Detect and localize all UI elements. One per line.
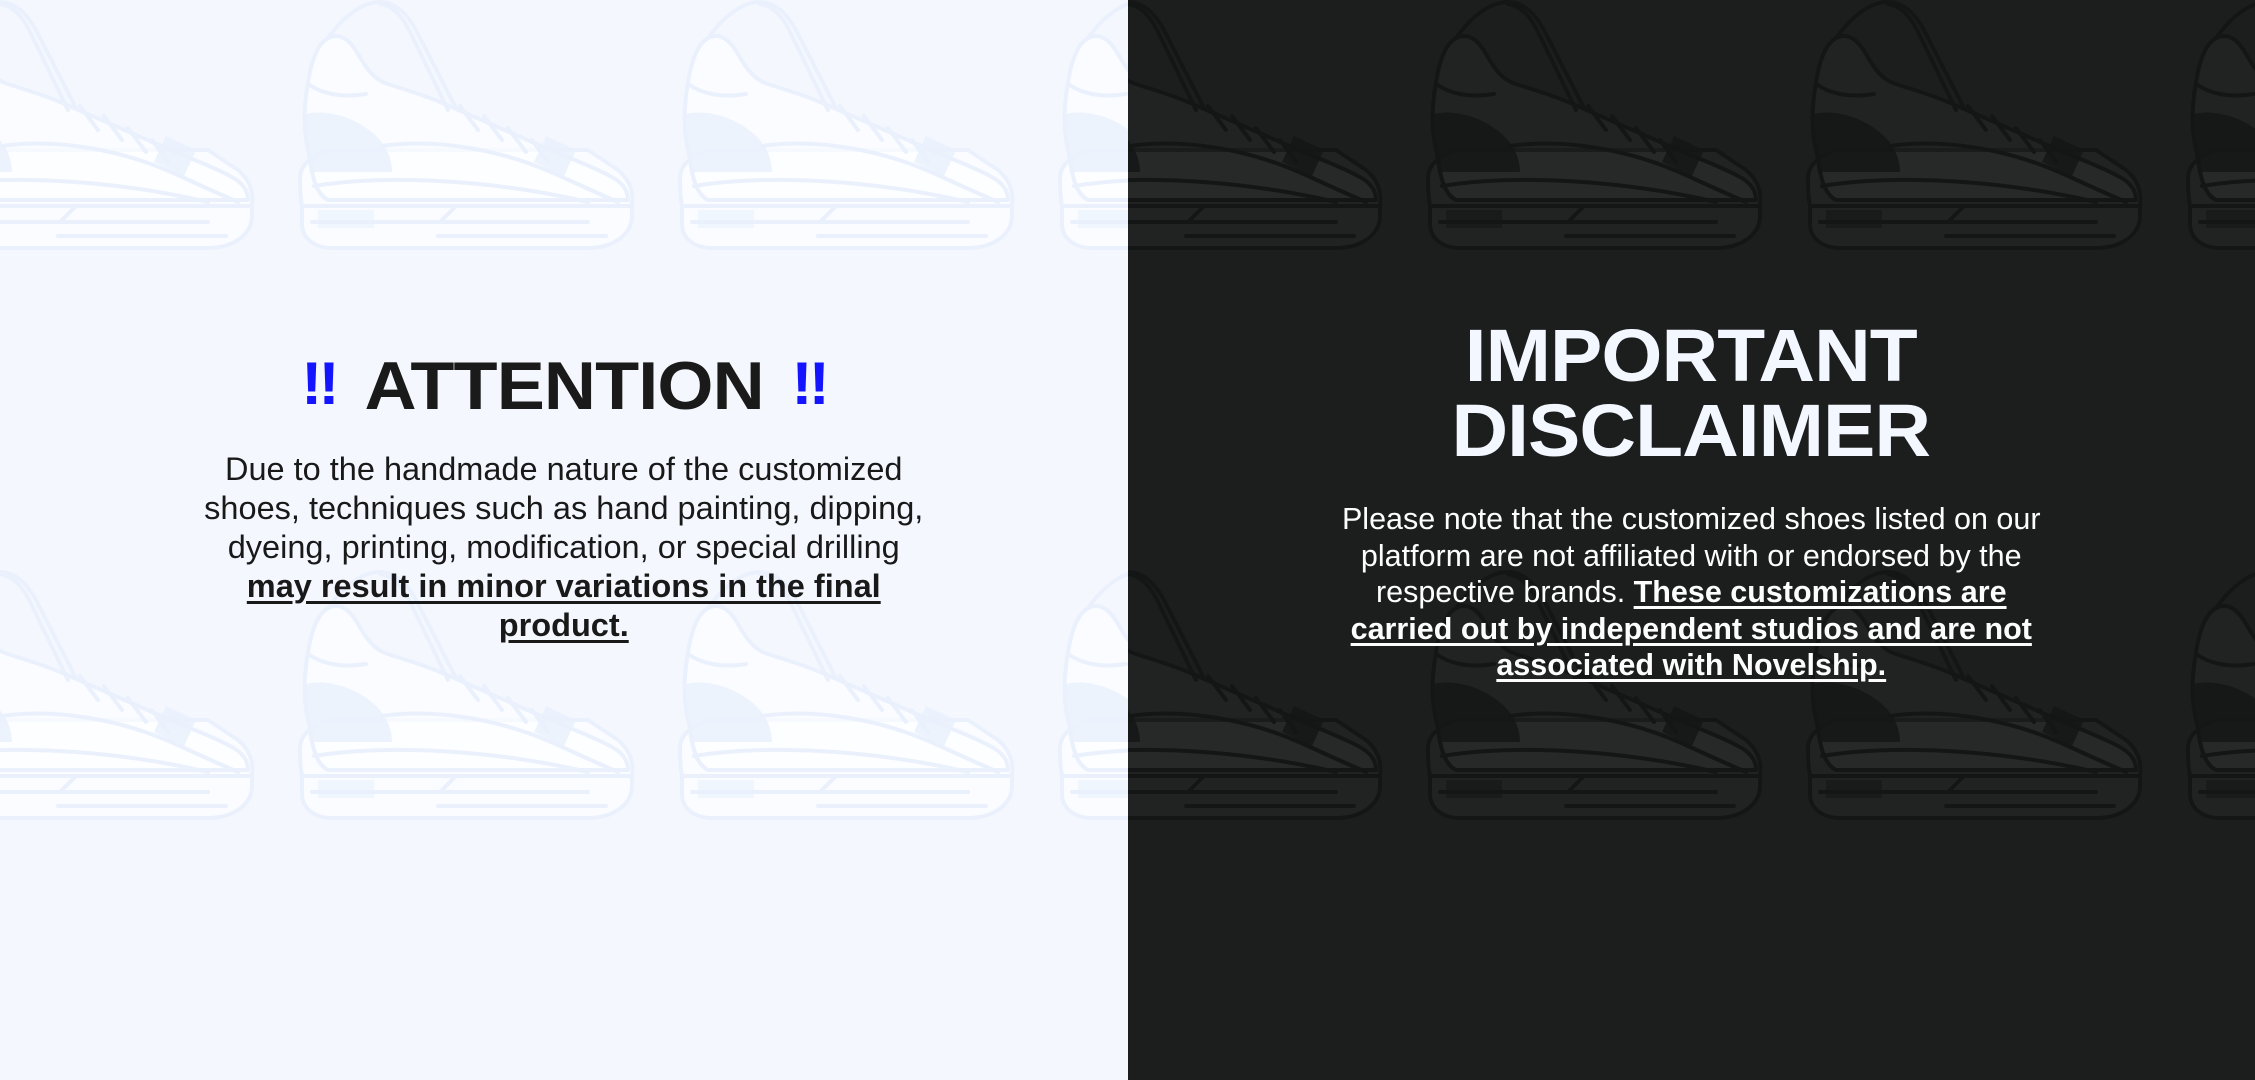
attention-content: ‼ ATTENTION ‼ Due to the handmade nature… xyxy=(0,0,1128,645)
attention-body: Due to the handmade nature of the custom… xyxy=(194,450,934,645)
disclaimer-banner: ‼ ATTENTION ‼ Due to the handmade nature… xyxy=(0,0,2255,1080)
disclaimer-content: IMPORTANT DISCLAIMER Please note that th… xyxy=(1128,0,2255,684)
double-exclamation-icon-right: ‼ xyxy=(791,354,827,414)
disclaimer-heading: IMPORTANT DISCLAIMER xyxy=(1452,318,1931,469)
attention-body-emphasis: may result in minor variations in the fi… xyxy=(247,568,881,643)
disclaimer-heading-line-1: IMPORTANT xyxy=(1452,318,1931,393)
disclaimer-heading-line-2: DISCLAIMER xyxy=(1452,393,1931,468)
attention-heading-text: ATTENTION xyxy=(364,352,763,420)
attention-body-normal: Due to the handmade nature of the custom… xyxy=(204,451,923,565)
attention-panel: ‼ ATTENTION ‼ Due to the handmade nature… xyxy=(0,0,1128,1080)
disclaimer-panel: IMPORTANT DISCLAIMER Please note that th… xyxy=(1128,0,2255,1080)
disclaimer-body: Please note that the customized shoes li… xyxy=(1335,501,2047,684)
attention-heading: ‼ ATTENTION ‼ xyxy=(301,352,827,420)
double-exclamation-icon-left: ‼ xyxy=(301,354,337,414)
